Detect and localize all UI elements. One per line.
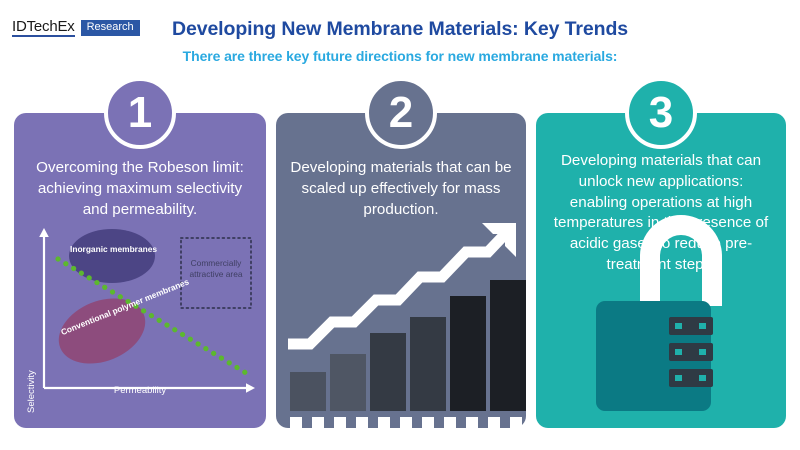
panel-unlock-new-applications: 3 Developing materials that can unlock n… — [536, 113, 786, 428]
padlock-shackle — [650, 225, 712, 306]
bar-series — [290, 280, 526, 411]
bar-5 — [450, 296, 486, 411]
bar-1 — [290, 372, 326, 411]
bar-2 — [330, 354, 366, 411]
growth-bar-chart-svg — [276, 113, 526, 428]
x-axis-label-permeability: Permeability — [14, 385, 266, 396]
panel-overcoming-robeson-limit: 1 Overcoming the Robeson limit: achievin… — [14, 113, 266, 428]
open-padlock-svg — [536, 113, 786, 428]
robeson-plot-graphic: Inorganic membranes Conventional polymer… — [14, 113, 266, 428]
open-padlock-graphic — [536, 113, 786, 428]
commercially-attractive-area-label: Commercially attractive area — [181, 258, 251, 279]
panel-scale-up-mass-production: 2 Developing materials that can be scale… — [276, 113, 526, 428]
inorganic-membranes-label: Inorganic membranes — [70, 244, 154, 254]
bar-6 — [490, 280, 526, 411]
dashed-baseline — [290, 417, 522, 428]
bar-3 — [370, 333, 406, 411]
bar-4 — [410, 317, 446, 411]
page-subtitle: There are three key future directions fo… — [0, 48, 800, 64]
page-title: Developing New Membrane Materials: Key T… — [0, 18, 800, 41]
growth-bar-chart-graphic — [276, 113, 526, 428]
